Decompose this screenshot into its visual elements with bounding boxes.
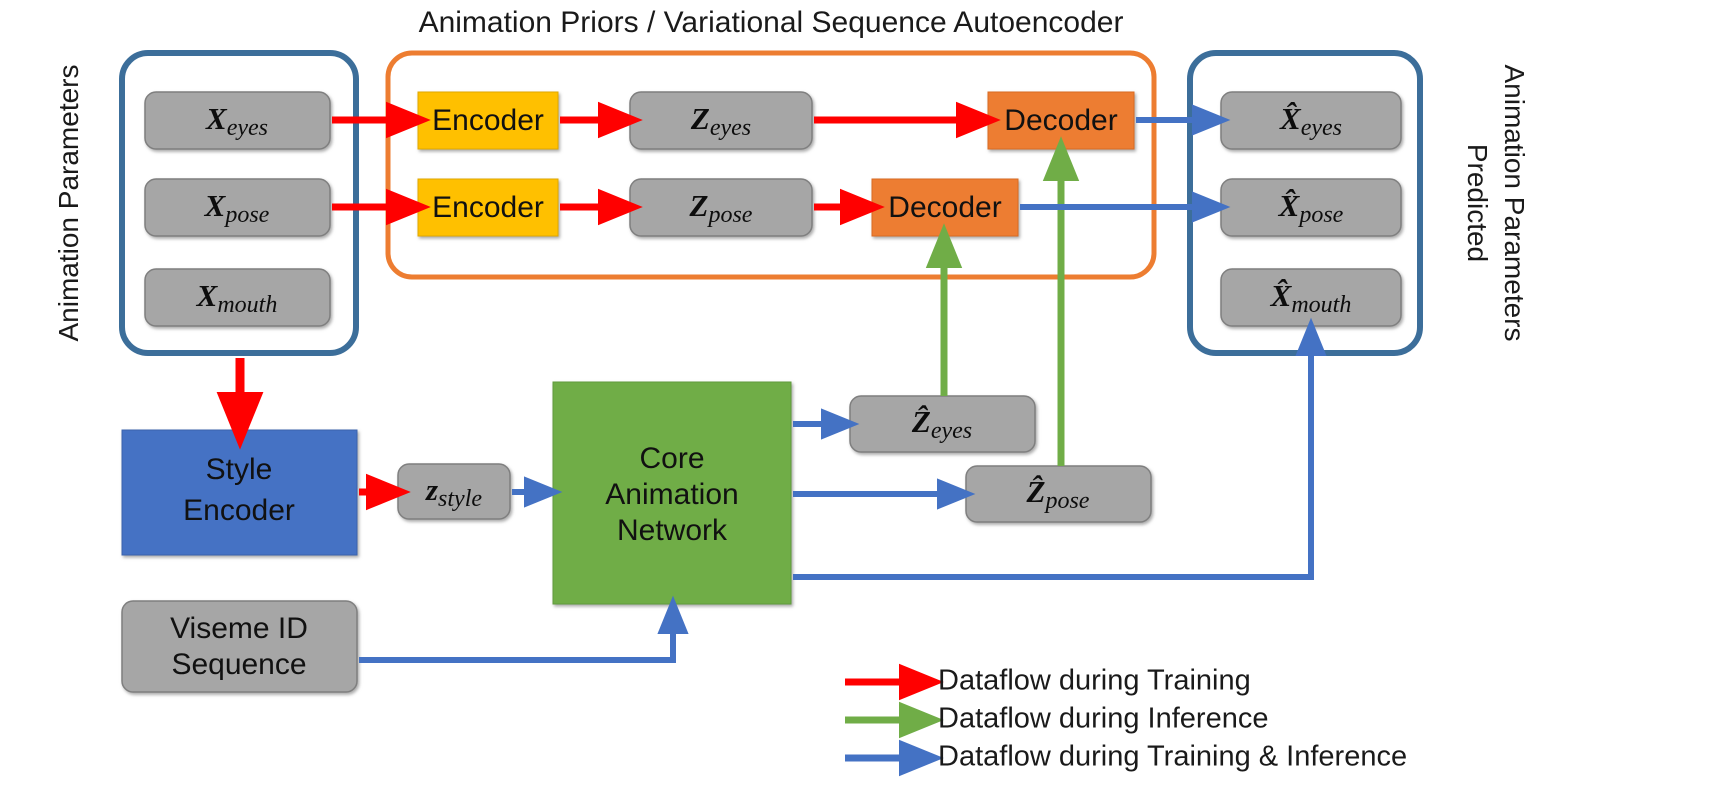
core-network-line1: Core: [639, 442, 704, 475]
encoder-eyes: Encoder: [418, 92, 558, 149]
legend-item-inference: Dataflow during Inference: [845, 703, 1268, 735]
style-encoder-box: Style Encoder: [122, 430, 357, 555]
zhat-eyes-sub: eyes: [931, 418, 972, 444]
latent-z-eyes: Zeyes: [630, 92, 812, 149]
gt-pose-base: X: [204, 188, 227, 223]
z-pose-sub: pose: [706, 202, 752, 228]
predicted-box-pose: X̂pose: [1221, 179, 1401, 236]
core-network-line3: Network: [617, 514, 728, 547]
viseme-sequence-box: Viseme ID Sequence: [122, 601, 357, 692]
diagram-canvas: Xeyes Xpose Xmouth Encoder Encoder: [0, 0, 1728, 807]
right-label-line2: Animation Parameters: [1499, 64, 1530, 341]
core-network-line2: Animation: [605, 478, 738, 511]
legend-label-inference: Dataflow during Inference: [938, 703, 1268, 735]
decoder-eyes: Decoder: [988, 92, 1134, 149]
latent-z-pose: Zpose: [630, 179, 812, 236]
legend-item-training: Dataflow during Training: [845, 665, 1251, 697]
z-style-sub: style: [438, 486, 482, 512]
pred-mouth-sub: mouth: [1291, 292, 1351, 318]
legend-label-training: Dataflow during Training: [938, 665, 1251, 697]
zhat-pose-sub: pose: [1043, 488, 1089, 514]
predicted-box-mouth: X̂mouth: [1221, 269, 1401, 326]
pred-pose-base: X̂: [1278, 188, 1301, 223]
encoder-eyes-label: Encoder: [432, 104, 544, 137]
pred-eyes-sub: eyes: [1301, 115, 1342, 141]
zhat-pose-base: Ẑ: [1026, 474, 1046, 509]
diagram-title: Animation Priors / Variational Sequence …: [419, 6, 1124, 39]
legend-label-both: Dataflow during Training & Inference: [938, 741, 1407, 773]
ground-truth-box-mouth: Xmouth: [145, 269, 330, 326]
ground-truth-box-eyes: Xeyes: [145, 92, 330, 149]
predicted-box-eyes: X̂eyes: [1221, 92, 1401, 149]
gt-mouth-sub: mouth: [217, 292, 277, 318]
gt-mouth-base: X: [196, 278, 219, 313]
architecture-diagram: Xeyes Xpose Xmouth Encoder Encoder: [0, 0, 1728, 807]
predicted-latent-z-eyes: Ẑeyes: [850, 396, 1035, 452]
style-latent-box: zstyle: [398, 464, 510, 519]
z-eyes-base: Z: [690, 101, 710, 136]
pred-mouth-base: X̂: [1270, 278, 1293, 313]
viseme-line1: Viseme ID: [170, 612, 308, 645]
pred-pose-sub: pose: [1297, 202, 1343, 228]
legend-item-both: Dataflow during Training & Inference: [845, 741, 1407, 773]
z-pose-base: Z: [689, 188, 709, 223]
arrow-core-network-to-predicted-mouth: [793, 338, 1311, 577]
encoder-pose-label: Encoder: [432, 191, 544, 224]
predicted-latent-z-pose: Ẑpose: [966, 466, 1151, 522]
style-encoder-line1: Style: [206, 453, 273, 486]
encoder-pose: Encoder: [418, 179, 558, 236]
z-style-base: z: [425, 472, 438, 507]
gt-eyes-base: X: [205, 101, 228, 136]
gt-pose-sub: pose: [223, 202, 269, 228]
decoder-pose: Decoder: [872, 179, 1018, 236]
left-label-line2: Animation Parameters: [53, 64, 84, 341]
zhat-eyes-base: Ẑ: [911, 404, 931, 439]
core-animation-network-box: Core Animation Network: [553, 382, 791, 604]
decoder-pose-label: Decoder: [888, 191, 1001, 224]
viseme-line2: Sequence: [171, 648, 306, 681]
decoder-eyes-label: Decoder: [1004, 104, 1117, 137]
ground-truth-box-pose: Xpose: [145, 179, 330, 236]
right-label-line1: Predicted: [1462, 144, 1493, 262]
arrow-viseme-to-core-network: [359, 616, 673, 660]
style-encoder-line2: Encoder: [183, 494, 295, 527]
gt-eyes-sub: eyes: [227, 115, 268, 141]
z-eyes-sub: eyes: [710, 115, 751, 141]
animation-priors-container: [388, 53, 1154, 277]
pred-eyes-base: X̂: [1279, 101, 1302, 136]
legend: Dataflow during Training Dataflow during…: [845, 665, 1407, 773]
